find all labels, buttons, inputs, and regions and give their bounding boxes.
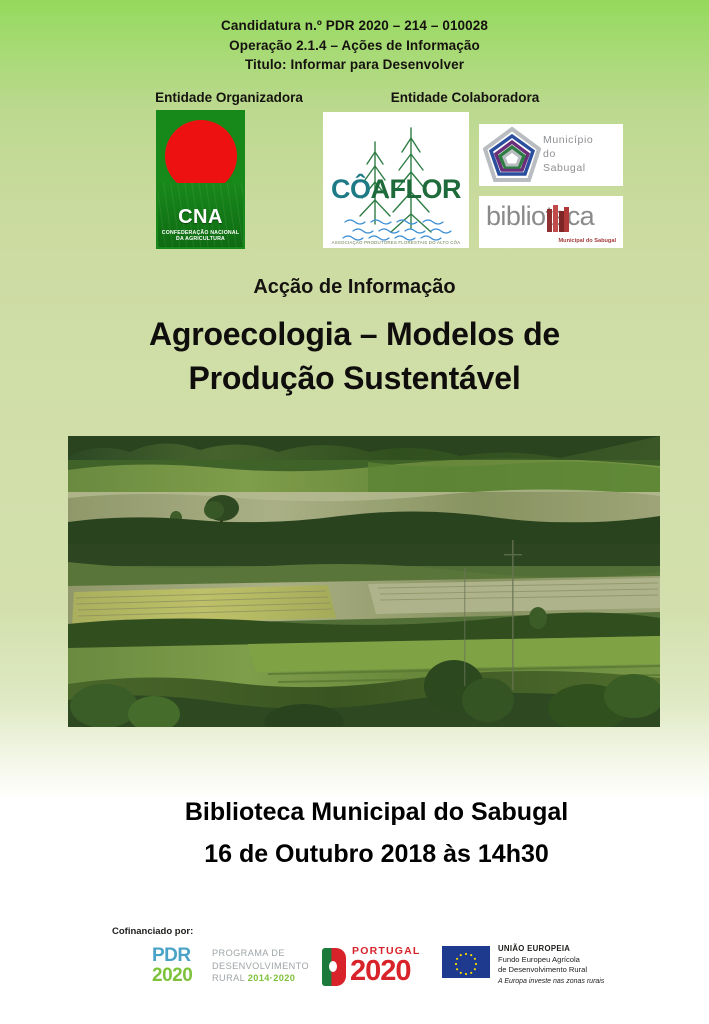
pdr2020-mark: PDR 2020 bbox=[152, 946, 206, 988]
landscape-photo-graphic bbox=[68, 436, 660, 727]
datetime-text: 16 de Outubro 2018 às 14h30 bbox=[0, 840, 709, 869]
pdr-text-years: 2014·2020 bbox=[248, 973, 296, 983]
cna-sun-icon bbox=[165, 120, 237, 192]
coaflor-word-part1: CÔ bbox=[331, 174, 371, 204]
pdr-mark-top: PDR bbox=[152, 946, 206, 966]
eu-flag-icon bbox=[442, 946, 490, 978]
pdr-text-line-1: PROGRAMA DE bbox=[212, 947, 309, 960]
municipio-line-2: do bbox=[543, 147, 593, 161]
poster-canvas: Candidatura n.º PDR 2020 – 214 – 010028 … bbox=[0, 0, 709, 1024]
cna-logo: CNA CONFEDERAÇÃO NACIONAL DA AGRICULTURA bbox=[156, 110, 245, 249]
header-line-candidatura: Candidatura n.º PDR 2020 – 214 – 010028 bbox=[0, 16, 709, 36]
biblioteca-subtitle: Municipal do Sabugal bbox=[559, 238, 617, 244]
eu-fund-line-1: Fundo Europeu Agrícola bbox=[498, 955, 604, 964]
coaflor-wordmark: CÔAFLOR bbox=[323, 174, 469, 205]
event-title-line-1: Agroecologia – Modelos de bbox=[0, 312, 709, 356]
header-line-titulo: Titulo: Informar para Desenvolver bbox=[0, 55, 709, 75]
municipio-pentagon-icon bbox=[483, 127, 541, 183]
coaflor-logo: CÔAFLOR ASSOCIAÇÃO PRODUTORES FLORESTAIS… bbox=[323, 112, 469, 248]
municipio-sabugal-logo: Município do Sabugal bbox=[479, 124, 623, 186]
cna-wordmark: CNA bbox=[158, 206, 243, 229]
event-kicker: Acção de Informação bbox=[0, 276, 709, 299]
candidatura-header: Candidatura n.º PDR 2020 – 214 – 010028 … bbox=[0, 16, 709, 75]
pdr-mark-bottom: 2020 bbox=[152, 966, 206, 986]
eu-fund-line-2: de Desenvolvimento Rural bbox=[498, 965, 587, 974]
funding-footer: Cofinanciado por: PDR 2020 PROGRAMA DE D… bbox=[0, 920, 709, 1010]
pdr-text-line-3: RURAL 2014·2020 bbox=[212, 972, 309, 985]
event-title-line-2: Produção Sustentável bbox=[0, 356, 709, 400]
municipio-line-1: Município bbox=[543, 133, 593, 147]
portugal2020-logo: PORTUGAL 2020 bbox=[322, 944, 442, 992]
pdr2020-logo: PDR 2020 PROGRAMA DE DESENVOLVIMENTO RUR… bbox=[152, 946, 317, 992]
eu-text-block: UNIÃO EUROPEIA Fundo Europeu Agrícola de… bbox=[498, 944, 604, 987]
municipio-line-3: Sabugal bbox=[543, 161, 593, 175]
pdr-text-line-2: DESENVOLVIMENTO bbox=[212, 960, 309, 973]
event-title: Agroecologia – Modelos de Produção Suste… bbox=[0, 312, 709, 400]
biblioteca-wordmark: biblioteca bbox=[486, 201, 594, 232]
pdr2020-text: PROGRAMA DE DESENVOLVIMENTO RURAL 2014·2… bbox=[212, 947, 309, 985]
portugal-flag-icon bbox=[322, 948, 346, 986]
header-line-operacao: Operação 2.1.4 – Ações de Informação bbox=[0, 36, 709, 56]
coaflor-subtitle: ASSOCIAÇÃO PRODUTORES FLORESTAIS DO ALTO… bbox=[323, 240, 469, 245]
books-icon bbox=[547, 205, 569, 232]
portugal-year: 2020 bbox=[350, 955, 411, 988]
cofinanced-label: Cofinanciado por: bbox=[112, 926, 193, 937]
coaflor-word-part2: AFLOR bbox=[371, 174, 461, 204]
european-union-logo: UNIÃO EUROPEIA Fundo Europeu Agrícola de… bbox=[442, 944, 627, 996]
entidade-colaboradora-label: Entidade Colaboradora bbox=[330, 90, 600, 105]
biblioteca-logo: biblioteca Municipal do Sabugal bbox=[479, 196, 623, 248]
pdr-text-rural: RURAL bbox=[212, 973, 248, 983]
eu-stars-icon bbox=[442, 946, 490, 978]
eu-title: UNIÃO EUROPEIA bbox=[498, 944, 604, 953]
entidade-organizadora-label: Entidade Organizadora bbox=[104, 90, 354, 105]
eu-motto: A Europa investe nas zonas rurais bbox=[498, 977, 604, 986]
venue-text: Biblioteca Municipal do Sabugal bbox=[0, 798, 709, 827]
landscape-photo bbox=[68, 436, 660, 727]
cna-subtitle: CONFEDERAÇÃO NACIONAL DA AGRICULTURA bbox=[158, 230, 243, 242]
municipio-wordmark: Município do Sabugal bbox=[543, 133, 593, 175]
